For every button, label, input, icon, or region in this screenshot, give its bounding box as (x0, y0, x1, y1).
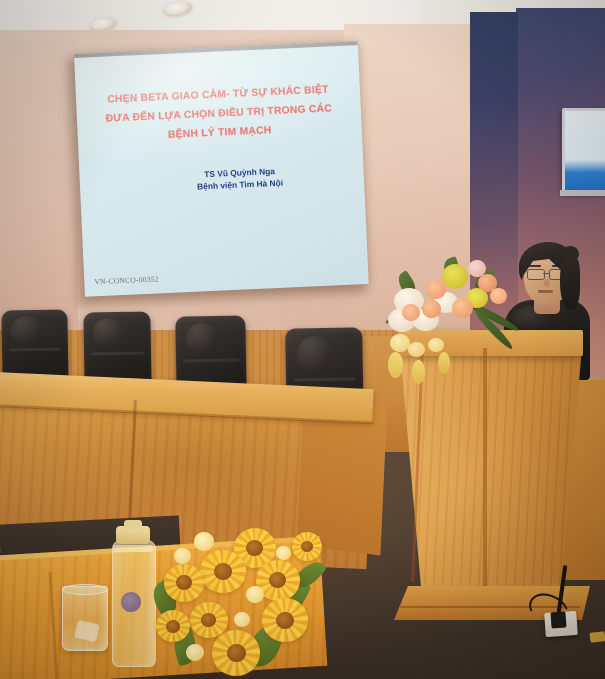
blush-rose (468, 260, 486, 277)
peach-rose (490, 288, 507, 304)
presentation-photo-scene: CHẸN BETA GIAO CẢM- TỪ SỰ KHÁC BIỆT ĐƯA … (0, 0, 605, 679)
sunflower-bloom (212, 630, 260, 676)
sunflower-center (246, 540, 263, 556)
filler-bloom (174, 548, 191, 564)
yellow-spray (408, 342, 425, 357)
speaker-hair-bun (562, 246, 579, 262)
filler-bloom (246, 586, 264, 603)
sunflower-center (227, 644, 246, 662)
glasses-lens-left (527, 269, 545, 280)
sunflower-center (301, 541, 313, 552)
side-monitor (562, 108, 605, 194)
yellow-chrysanthemum (442, 264, 468, 289)
speaker-eyebrow-left (529, 265, 541, 267)
projection-screen: CHẸN BETA GIAO CẢM- TỪ SỰ KHÁC BIỆT ĐƯA … (74, 41, 369, 297)
yellow-spray-trail (438, 352, 450, 374)
drinking-glass-rim (62, 584, 108, 595)
yellow-spray-trail (388, 352, 403, 378)
podium-floral-arrangement (382, 252, 527, 402)
peach-rose (452, 298, 473, 318)
drinking-glass (62, 586, 108, 651)
power-plug-icon (550, 611, 566, 628)
sunflower-center (214, 563, 232, 580)
sunflower-center (166, 620, 180, 633)
slide-reference-code: VN-CONCO-00352 (94, 274, 159, 286)
peach-rose (422, 300, 441, 318)
side-monitor-base (560, 190, 605, 196)
yellow-spray-trail (412, 360, 425, 384)
sunflower-center (176, 575, 192, 590)
sunflower-center (276, 612, 294, 629)
side-monitor-screen (565, 111, 605, 190)
sunflower-center (269, 572, 286, 588)
water-bottle-neck-ring (113, 545, 153, 552)
sunflower-bloom (262, 598, 308, 642)
sunflower-bloom (200, 550, 246, 593)
filler-bloom (276, 546, 291, 560)
slide-presenter-block: TS Vũ Quỳnh Nga Bệnh viện Tim Hà Nội (119, 161, 360, 196)
peach-rose (426, 280, 446, 299)
speaker-hair-side (560, 256, 580, 310)
sunflower-arrangement (150, 524, 330, 679)
peach-rose (402, 304, 420, 321)
floor-marker-tape (590, 631, 605, 643)
chair-highlight (11, 316, 42, 346)
filler-bloom (194, 532, 214, 551)
sunflower-center (201, 613, 216, 627)
speaker-nose (544, 279, 550, 287)
filler-bloom (186, 644, 204, 661)
yellow-spray (390, 334, 410, 352)
sunflower-bloom (292, 532, 322, 561)
left-wall-strip (0, 40, 78, 340)
slide-title: CHẸN BETA GIAO CẢM- TỪ SỰ KHÁC BIỆT ĐƯA … (82, 79, 356, 148)
sunflower-bloom (164, 564, 204, 602)
filler-bloom (234, 612, 250, 627)
water-bottle-label (121, 592, 141, 612)
sunflower-bloom (156, 610, 190, 642)
yellow-spray (428, 338, 444, 352)
speaker-mouth (538, 290, 553, 293)
water-bottle-cap-flip (124, 520, 142, 529)
